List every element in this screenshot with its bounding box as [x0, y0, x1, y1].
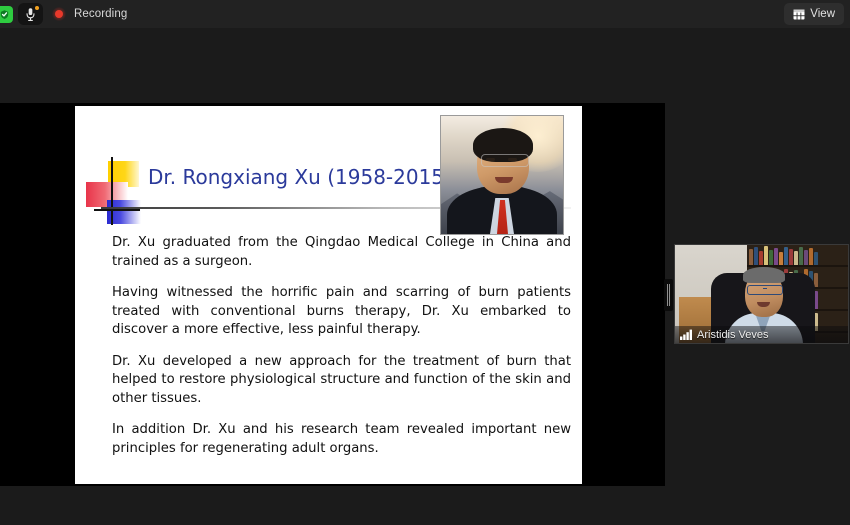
mic-status-dot: [35, 6, 39, 10]
video-person-hair: [743, 267, 785, 283]
grabber-line: [667, 284, 668, 306]
recording-dot-icon: [52, 7, 66, 21]
portrait-photo-rongxiang-xu: [440, 115, 564, 235]
presentation-slide: Dr. Rongxiang Xu (1958-2015): [75, 106, 582, 484]
portrait-right-eye: [508, 158, 517, 161]
shared-screen-stage[interactable]: Dr. Rongxiang Xu (1958-2015): [0, 103, 665, 486]
slide-title: Dr. Rongxiang Xu (1958-2015): [148, 165, 452, 189]
grabber-line: [669, 284, 670, 306]
slide-paragraph: In addition Dr. Xu and his research team…: [112, 421, 571, 458]
portrait-left-eye: [486, 158, 495, 161]
slide-paragraph: Having witnessed the horrific pain and s…: [112, 284, 571, 340]
meeting-window: Recording View: [0, 0, 850, 525]
top-bar-left-group: Recording: [0, 0, 127, 28]
participant-name-bar: Aristidis Veves: [675, 326, 848, 343]
panel-resize-grabber[interactable]: [664, 279, 673, 311]
slide-body-text: Dr. Xu graduated from the Qingdao Medica…: [112, 234, 571, 458]
view-button-label: View: [810, 8, 835, 20]
participant-name: Aristidis Veves: [697, 329, 769, 341]
top-bar-right-group: View: [784, 3, 844, 25]
bookshelf-row: [747, 245, 848, 267]
recording-label: Recording: [74, 8, 127, 20]
grid-layout-icon: [793, 9, 805, 20]
shield-check-icon[interactable]: [0, 6, 13, 23]
microphone-button[interactable]: [18, 3, 43, 25]
slide-header: Dr. Rongxiang Xu (1958-2015): [75, 106, 582, 231]
view-button[interactable]: View: [784, 3, 844, 25]
slide-paragraph: Dr. Xu developed a new approach for the …: [112, 353, 571, 409]
video-feed: Aristidis Veves: [675, 245, 848, 343]
meeting-top-bar: Recording View: [0, 0, 850, 28]
mondrian-squares-decoration: [86, 157, 148, 225]
decoration-horizontal-line: [94, 209, 140, 211]
network-signal-bars-icon: [680, 329, 693, 340]
video-person-glasses: [747, 285, 783, 295]
slide-paragraph: Dr. Xu graduated from the Qingdao Medica…: [112, 234, 571, 271]
decoration-vertical-line: [111, 157, 113, 225]
participant-video-tile[interactable]: Aristidis Veves: [674, 244, 849, 344]
